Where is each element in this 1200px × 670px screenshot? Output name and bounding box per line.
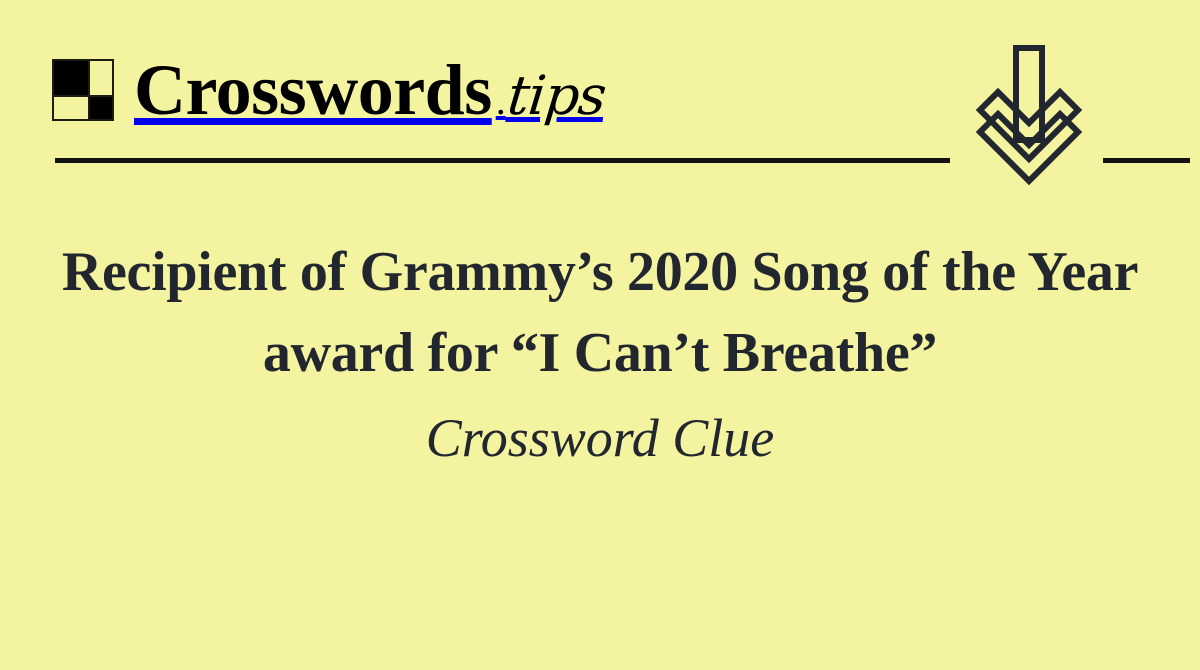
brand-suffix: tips [505,69,608,123]
grid-cell-top-right [90,61,112,97]
page-subtitle: Crossword Clue [14,403,1186,473]
double-chevron-down-arrow-icon[interactable] [968,40,1090,186]
grid-cell-bottom-right [90,97,112,119]
site-header: Crosswords . tips [0,0,1200,190]
crossword-grid-icon [52,59,114,121]
brand-wordmark: Crosswords . tips [134,54,605,126]
brand-logo-link[interactable]: Crosswords . tips [52,42,605,138]
page-title: Recipient of Grammy’s 2020 Song of the Y… [14,232,1186,393]
divider-segment-left [55,158,950,163]
clue-block: Recipient of Grammy’s 2020 Song of the Y… [0,232,1200,473]
grid-cell-top-left [54,61,90,97]
grid-cell-bottom-left [54,97,90,119]
page-root: Crosswords . tips Recip [0,0,1200,670]
divider-segment-right [1103,158,1190,163]
brand-name: Crosswords [134,54,492,126]
